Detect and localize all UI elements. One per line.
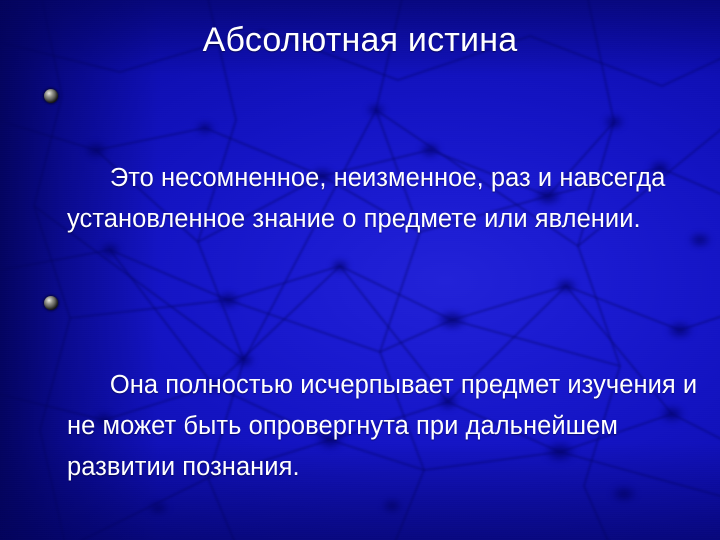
presentation-slide: Абсолютная истина Это несомненное, неизм… — [0, 0, 720, 540]
sphere-bullet-icon — [44, 89, 58, 103]
sphere-bullet-icon — [44, 296, 58, 310]
bullet-list-item: Это несомненное, неизменное, раз и навсе… — [40, 76, 700, 281]
slide-title: Абсолютная истина — [0, 21, 720, 59]
bullet-list-item: Многие философы считают ее идеалом, обра… — [40, 531, 700, 540]
bullet-text: Она полностью исчерпывает предмет изучен… — [67, 371, 704, 481]
bullet-list-item: Она полностью исчерпывает предмет изучен… — [40, 283, 700, 529]
bullet-text: Это несомненное, неизменное, раз и навсе… — [67, 164, 680, 233]
slide-body-content: Это несомненное, неизменное, раз и навсе… — [40, 76, 700, 540]
